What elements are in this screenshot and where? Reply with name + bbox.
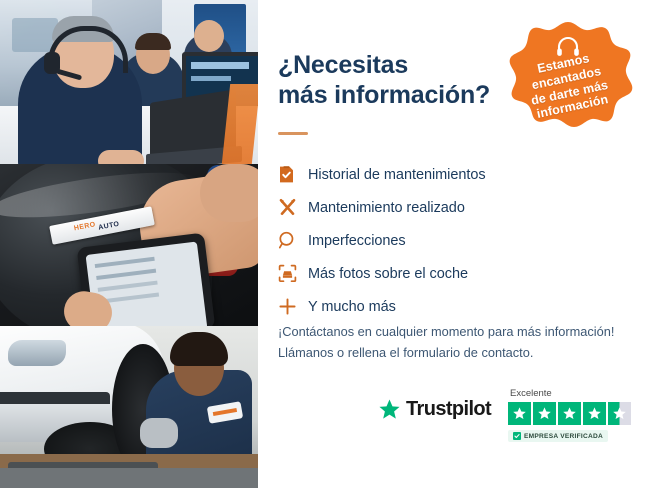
feature-item-imperfecciones[interactable]: Imperfecciones [278, 224, 638, 257]
star-2 [533, 402, 556, 425]
inspector-hand [200, 164, 258, 222]
mechanic-hair [170, 332, 228, 366]
ruler-brand-auto: AUTO [98, 221, 120, 232]
wrench-screwdriver-icon [278, 198, 308, 217]
feature-item-fotos[interactable]: Más fotos sobre el coche [278, 257, 638, 290]
contact-line-1: ¡Contáctanos en cualquier momento para m… [278, 322, 638, 343]
feature-label: Imperfecciones [308, 233, 406, 249]
trustpilot-wordmark: Trustpilot [406, 398, 491, 421]
plus-icon [278, 297, 308, 316]
car-scan-icon [278, 264, 308, 283]
mechanic-glove [140, 418, 178, 448]
background-person-1-hair [135, 33, 171, 50]
content-column: ¿Necesitas más información? Estamos enca… [258, 0, 650, 488]
info-promo-card: AUTOHERO ¿Necesitas m [0, 0, 650, 488]
call-center-agent-photo [0, 0, 258, 164]
page-title: ¿Necesitas más información? [278, 50, 518, 110]
workshop-floor [0, 468, 258, 488]
background-person-2-head [194, 20, 224, 52]
car-inspection-photo: AUTOHERO [0, 164, 258, 326]
car-headlamp [8, 340, 66, 366]
feature-item-historial[interactable]: Historial de mantenimientos [278, 158, 638, 191]
support-badge: Estamos encantados de darte más informac… [498, 18, 638, 158]
feature-item-mucho-mas[interactable]: Y mucho más [278, 290, 638, 323]
feature-label: Historial de mantenimientos [308, 167, 486, 183]
trustpilot-widget[interactable]: Trustpilot Excelente EMPRESA VERIFICADA [378, 392, 650, 452]
workshop-mechanic-photo [0, 326, 258, 488]
trustpilot-stars [508, 402, 631, 425]
page-title-line-1: ¿Necesitas [278, 50, 518, 80]
verified-company-label: EMPRESA VERIFICADA [524, 433, 603, 440]
contact-line-2: Llámanos o rellena el formulario de cont… [278, 343, 638, 364]
document-check-icon [278, 165, 308, 184]
feature-item-mantenimiento[interactable]: Mantenimiento realizado [278, 191, 638, 224]
photo-column: AUTOHERO [0, 0, 258, 488]
page-title-line-2: más información? [278, 80, 518, 110]
verified-company-badge: EMPRESA VERIFICADA [508, 430, 608, 442]
contact-text: ¡Contáctanos en cualquier momento para m… [278, 322, 638, 363]
magnifier-icon [278, 231, 308, 250]
star-3 [558, 402, 581, 425]
trustpilot-logo: Trustpilot [378, 398, 491, 421]
trustpilot-rating-label: Excelente [510, 388, 552, 399]
star-4 [583, 402, 606, 425]
title-accent-rule [278, 132, 308, 135]
star-1 [508, 402, 531, 425]
feature-label: Mantenimiento realizado [308, 200, 465, 216]
agent-hand [98, 150, 144, 164]
feature-list: Historial de mantenimientos Mantenimient… [278, 158, 638, 323]
feature-label: Y mucho más [308, 299, 396, 315]
star-5-half [608, 402, 631, 425]
ruler-brand-hero: HERO [73, 221, 96, 232]
verified-check-icon [513, 432, 521, 440]
feature-label: Más fotos sobre el coche [308, 266, 468, 282]
trustpilot-star-icon [378, 398, 401, 421]
